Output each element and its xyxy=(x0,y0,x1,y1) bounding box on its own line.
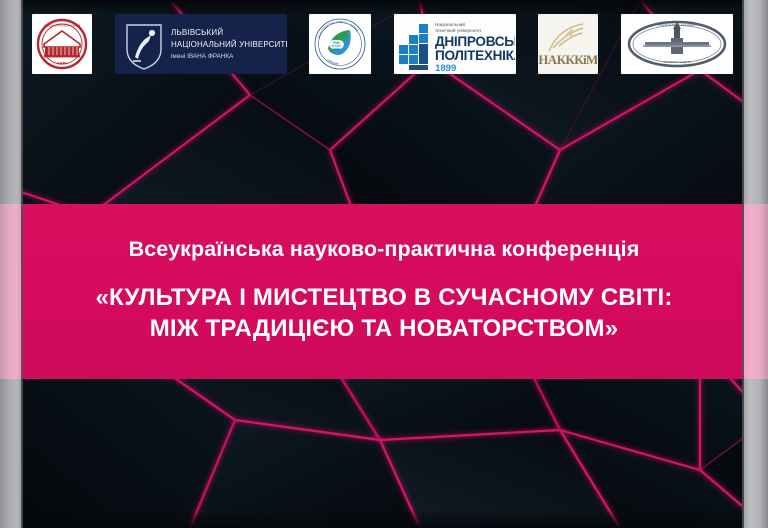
logo-knuba-year: 1930 xyxy=(58,61,68,66)
top-vignette xyxy=(23,0,742,14)
conference-title-banner: Всеукраїнська науково-практична конферен… xyxy=(0,204,768,379)
logo-lnu-line3: імені ІВАНА ФРАНКА xyxy=(171,52,234,60)
svg-text:учених: учених xyxy=(333,48,341,50)
logo-lnu-line1: ЛЬВІВСЬКИЙ xyxy=(171,28,223,37)
logo-dnipro-line2: технічний університет xyxy=(435,27,482,33)
left-edge-divider xyxy=(21,0,23,528)
logo-nakkkim: НАКККіМ xyxy=(538,14,598,74)
logo-ministry-of-education-science: МІНІСТЕРСТВО ОСВІТИ І НАУКИ УКРАЇНИ Рада… xyxy=(309,14,371,74)
logo-dnipro-year: 1899 xyxy=(435,63,456,73)
left-edge-strip xyxy=(0,0,23,528)
left-edge-top xyxy=(0,0,23,204)
conference-poster: 1930 КИЇВСЬКИЙ НАЦІОНАЛЬНИЙ ЛЬВІВСЬКИЙ Н… xyxy=(0,0,768,528)
right-edge-top xyxy=(742,0,768,204)
partner-logo-bar: 1930 КИЇВСЬКИЙ НАЦІОНАЛЬНИЙ ЛЬВІВСЬКИЙ Н… xyxy=(23,13,742,75)
logo-lnu-line2: НАЦІОНАЛЬНИЙ УНІВЕРСИТЕТ xyxy=(171,40,287,49)
bottom-vignette xyxy=(23,510,742,528)
conference-title: «КУЛЬТУРА І МИСТЕЦТВО В СУЧАСНОМУ СВІТІ:… xyxy=(40,282,728,345)
logo-mon-ring-bottom: УКРАЇНИ xyxy=(326,58,339,66)
right-edge-divider xyxy=(742,0,744,528)
right-edge-bottom xyxy=(742,379,768,528)
logo-dnipro-line1: Національний xyxy=(435,21,465,27)
logo-knuba-emblem: 1930 КИЇВСЬКИЙ НАЦІОНАЛЬНИЙ xyxy=(32,14,92,74)
conference-title-line-1: «КУЛЬТУРА І МИСТЕЦТВО В СУЧАСНОМУ СВІТІ: xyxy=(40,282,728,314)
left-edge-bottom xyxy=(0,379,23,528)
right-edge-middle xyxy=(742,204,768,379)
logo-dnipro-polytechnic: Національний технічний університет ДНІПР… xyxy=(394,14,516,74)
logo-arch-ring-top: НАЦІОНАЛЬНА АКАДЕМІЯ xyxy=(657,23,696,27)
logo-nakkkim-wordmark: НАКККіМ xyxy=(539,52,597,67)
logo-architecture-academy: НАЦІОНАЛЬНА АКАДЕМІЯ КЕРІВНИХ КАДРІВ xyxy=(621,14,733,74)
logo-arch-ring-bottom: КЕРІВНИХ КАДРІВ xyxy=(663,60,690,64)
conference-title-line-2: МІЖ ТРАДИЦІЄЮ ТА НОВАТОРСТВОМ» xyxy=(40,313,728,345)
right-edge-strip xyxy=(742,0,768,528)
logo-knuba-ring-text: КИЇВСЬКИЙ НАЦІОНАЛЬНИЙ xyxy=(44,24,80,28)
logo-dnipro-line3: ДНІПРОВСЬКА xyxy=(435,34,515,49)
conference-kicker: Всеукраїнська науково-практична конферен… xyxy=(40,238,728,262)
left-edge-middle xyxy=(0,204,23,379)
logo-dnipro-line4: ПОЛІТЕХНІКА xyxy=(435,48,515,63)
logo-lviv-national-university: ЛЬВІВСЬКИЙ НАЦІОНАЛЬНИЙ УНІВЕРСИТЕТ імен… xyxy=(115,14,287,74)
